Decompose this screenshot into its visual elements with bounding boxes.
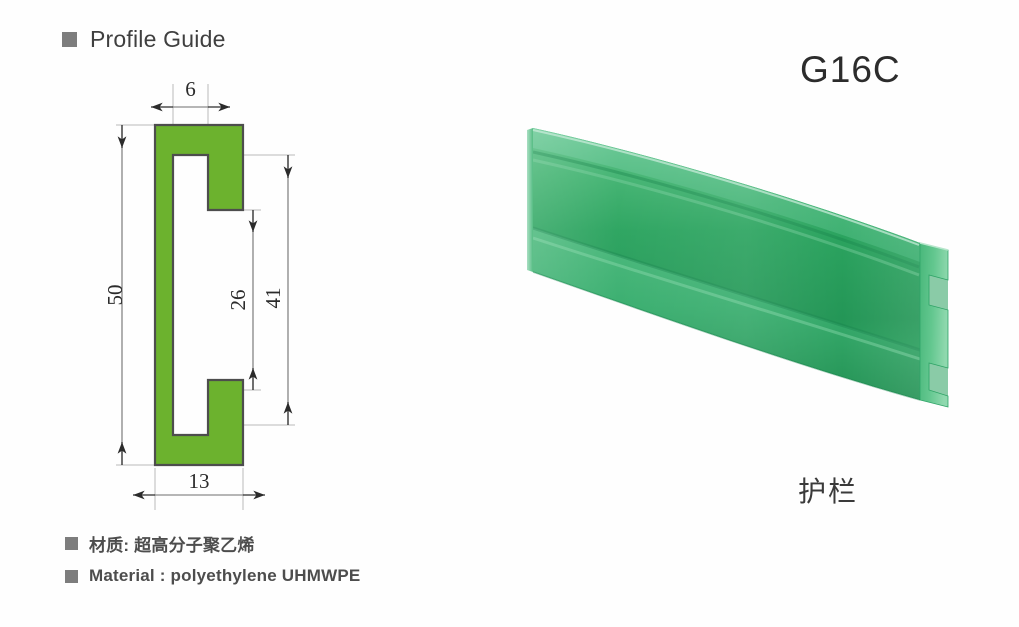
material-row-chinese: 材质: 超高分子聚乙烯 xyxy=(65,531,255,556)
square-bullet-icon xyxy=(65,570,78,583)
cross-section-drawing: 6 50 26 41 xyxy=(95,70,435,520)
material-row-english: Material : polyethylene UHMWPE xyxy=(65,566,360,586)
square-bullet-icon xyxy=(65,537,78,550)
dimension-26-label: 26 xyxy=(226,290,250,311)
dimension-26: 26 xyxy=(226,210,253,390)
material-english-label: Material : polyethylene UHMWPE xyxy=(89,566,360,586)
dimension-13-label: 13 xyxy=(189,469,210,493)
dimension-50: 50 xyxy=(103,125,127,465)
dimension-6-label: 6 xyxy=(185,77,196,101)
square-bullet-icon xyxy=(62,32,77,47)
product-render-svg xyxy=(505,100,975,440)
section-heading-profile-guide: Profile Guide xyxy=(62,26,226,53)
page-root: Profile Guide xyxy=(0,0,1019,627)
render-sheen xyxy=(533,128,920,400)
part-code: G16C xyxy=(800,49,901,91)
cross-section-svg: 6 50 26 41 xyxy=(95,70,435,520)
render-end-notch-upper xyxy=(929,275,948,310)
dimension-50-label: 50 xyxy=(103,285,127,306)
dimension-41: 41 xyxy=(261,155,288,425)
product-render-3d xyxy=(505,100,975,440)
material-chinese-label: 材质: 超高分子聚乙烯 xyxy=(89,531,255,556)
section-heading-label: Profile Guide xyxy=(90,26,226,53)
dimension-13: 13 xyxy=(133,469,265,495)
render-body xyxy=(527,128,948,407)
render-caption: 护栏 xyxy=(798,470,858,510)
dimension-6: 6 xyxy=(151,77,230,107)
dimension-41-label: 41 xyxy=(261,288,285,309)
render-left-end-face xyxy=(527,128,533,272)
